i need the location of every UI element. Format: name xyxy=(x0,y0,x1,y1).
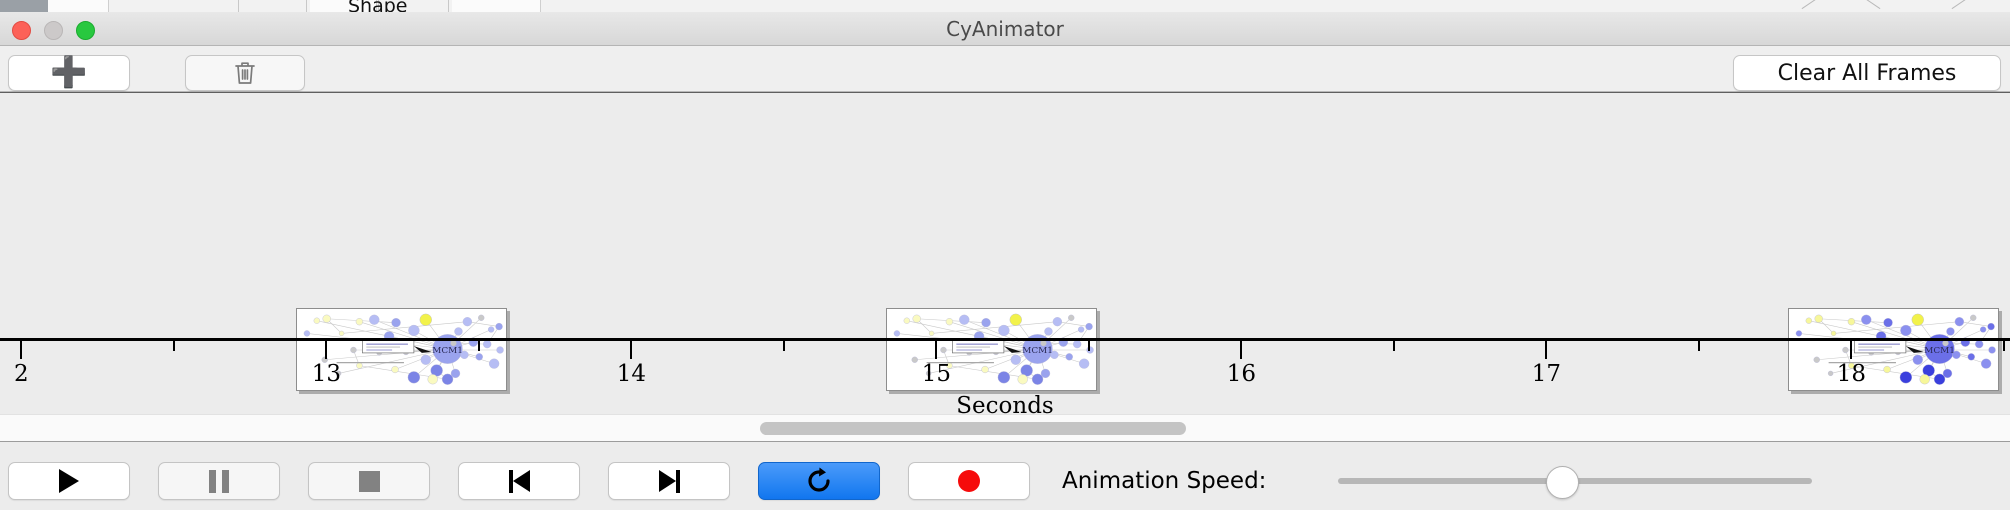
window-title: CyAnimator xyxy=(0,12,2010,46)
background-window-strip: Shape xyxy=(0,0,2010,12)
skip-to-start-icon xyxy=(509,470,530,493)
animation-speed-label: Animation Speed: xyxy=(1062,462,1266,500)
svg-text:MCM1: MCM1 xyxy=(1022,346,1053,356)
trash-icon xyxy=(234,60,256,86)
axis-tick-minor xyxy=(2003,341,2005,351)
skip-to-start-button[interactable] xyxy=(458,462,580,500)
axis-tick-minor xyxy=(1393,341,1395,351)
stop-button[interactable] xyxy=(308,462,430,500)
axis-tick-major xyxy=(935,341,937,359)
svg-text:MCM1: MCM1 xyxy=(432,346,463,356)
record-icon xyxy=(958,470,980,492)
axis-tick-minor xyxy=(478,341,480,351)
timeline-axis-title: Seconds xyxy=(0,393,2010,414)
timeline-frame-thumbnail[interactable]: MCM1 xyxy=(886,308,1097,391)
cyanimator-window: Shape CyAnimator ➕ Clear All Frames MCM1… xyxy=(0,0,2010,510)
pause-icon xyxy=(209,470,229,493)
loop-icon xyxy=(804,466,834,496)
axis-tick-major xyxy=(1545,341,1547,359)
svg-text:MCM1: MCM1 xyxy=(1924,346,1955,356)
axis-tick-major xyxy=(630,341,632,359)
axis-tick-minor xyxy=(173,341,175,351)
axis-tick-major xyxy=(20,341,22,359)
title-bar: CyAnimator xyxy=(0,12,2010,46)
timeline-axis-line xyxy=(0,338,2010,341)
timeline-scrollbar-thumb[interactable] xyxy=(760,422,1186,435)
axis-tick-label: 17 xyxy=(1532,361,1561,387)
axis-tick-label: 14 xyxy=(617,361,646,387)
timeline-panel[interactable]: MCM1 MCM1 MCM1 2131415161718 Seconds xyxy=(0,92,2010,414)
timeline-frame-thumbnail[interactable]: MCM1 xyxy=(1788,308,1999,391)
record-button[interactable] xyxy=(908,462,1030,500)
animation-speed-slider-thumb[interactable] xyxy=(1546,466,1579,499)
axis-tick-minor xyxy=(1088,341,1090,351)
axis-tick-minor xyxy=(1698,341,1700,351)
axis-tick-minor xyxy=(783,341,785,351)
clear-all-frames-label: Clear All Frames xyxy=(1778,61,1957,86)
play-icon xyxy=(59,469,79,493)
add-frame-button[interactable]: ➕ xyxy=(8,55,130,91)
plus-icon: ➕ xyxy=(50,58,87,88)
pause-button[interactable] xyxy=(158,462,280,500)
skip-to-end-button[interactable] xyxy=(608,462,730,500)
skip-to-end-icon xyxy=(659,470,680,493)
axis-tick-label: 18 xyxy=(1837,361,1866,387)
background-window-text: Shape xyxy=(348,0,408,12)
delete-frame-button[interactable] xyxy=(185,55,305,91)
loop-button[interactable] xyxy=(758,462,880,500)
axis-tick-label: 13 xyxy=(312,361,341,387)
timeline-scrollbar[interactable] xyxy=(0,414,2010,442)
axis-tick-label: 2 xyxy=(14,361,29,387)
play-button[interactable] xyxy=(8,462,130,500)
axis-tick-major xyxy=(1850,341,1852,359)
axis-tick-major xyxy=(325,341,327,359)
stop-icon xyxy=(359,471,380,492)
axis-tick-major xyxy=(1240,341,1242,359)
axis-tick-label: 15 xyxy=(922,361,951,387)
clear-all-frames-button[interactable]: Clear All Frames xyxy=(1733,55,2001,91)
axis-tick-label: 16 xyxy=(1227,361,1256,387)
